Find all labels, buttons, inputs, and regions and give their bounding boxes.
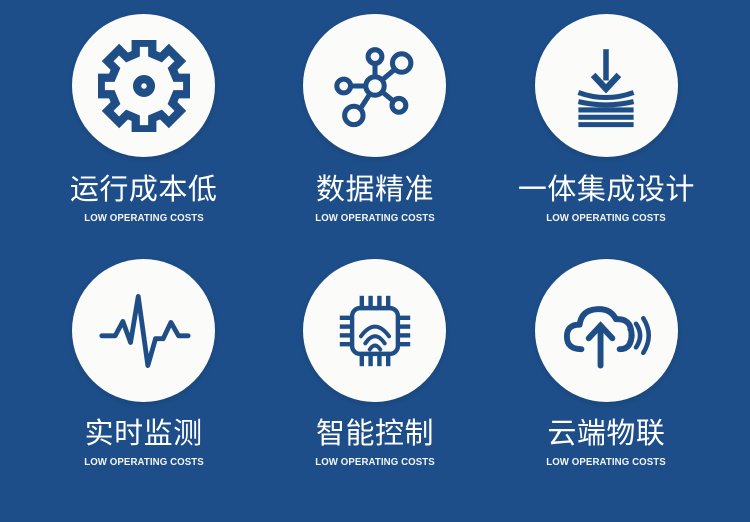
feature-card-integrated-design[interactable]: 一体集成设计 LOW OPERATING COSTS bbox=[491, 14, 722, 259]
card-caption: LOW OPERATING COSTS bbox=[84, 212, 204, 224]
feature-card-operating-costs[interactable]: 运行成本低 LOW OPERATING COSTS bbox=[28, 14, 259, 259]
card-title: 运行成本低 bbox=[70, 175, 218, 205]
card-title: 云端物联 bbox=[547, 419, 665, 449]
card-caption: LOW OPERATING COSTS bbox=[315, 212, 435, 224]
icon-circle bbox=[72, 259, 215, 402]
card-title: 实时监测 bbox=[85, 419, 203, 449]
card-caption: LOW OPERATING COSTS bbox=[546, 212, 666, 224]
network-nodes-icon bbox=[329, 40, 421, 132]
icon-circle bbox=[535, 14, 678, 157]
feature-card-smart-control[interactable]: 智能控制 LOW OPERATING COSTS bbox=[259, 259, 490, 504]
icon-circle bbox=[535, 259, 678, 402]
icon-circle bbox=[72, 14, 215, 157]
feature-card-realtime-monitoring[interactable]: 实时监测 LOW OPERATING COSTS bbox=[28, 259, 259, 504]
feature-grid: 运行成本低 LOW OPERATING COSTS bbox=[0, 0, 750, 522]
card-caption: LOW OPERATING COSTS bbox=[315, 456, 435, 468]
download-layers-icon bbox=[560, 40, 652, 132]
feature-card-data-accuracy[interactable]: 数据精准 LOW OPERATING COSTS bbox=[259, 14, 490, 259]
pulse-waveform-icon bbox=[96, 283, 192, 379]
icon-circle bbox=[303, 14, 446, 157]
gear-icon bbox=[98, 40, 190, 132]
card-title: 智能控制 bbox=[316, 419, 434, 449]
card-title: 数据精准 bbox=[316, 175, 434, 205]
card-caption: LOW OPERATING COSTS bbox=[546, 456, 666, 468]
features-infographic: 运行成本低 LOW OPERATING COSTS bbox=[0, 0, 750, 522]
cloud-upload-signal-icon bbox=[556, 281, 656, 381]
feature-card-cloud-iot[interactable]: 云端物联 LOW OPERATING COSTS bbox=[491, 259, 722, 504]
chip-wifi-icon bbox=[331, 287, 419, 375]
card-caption: LOW OPERATING COSTS bbox=[84, 456, 204, 468]
card-title: 一体集成设计 bbox=[518, 175, 695, 205]
icon-circle bbox=[303, 259, 446, 402]
